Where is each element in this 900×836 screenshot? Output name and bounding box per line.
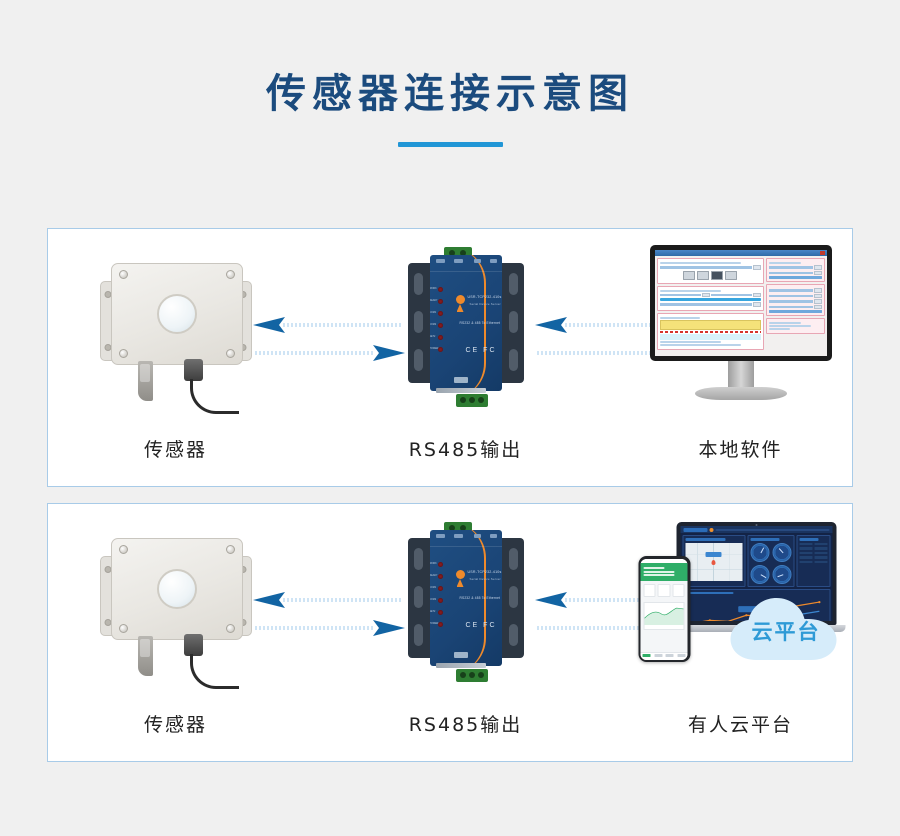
stage-label-endpoint: 有人云平台 <box>628 710 853 737</box>
terminal-block-bottom <box>456 669 488 682</box>
metric-card <box>658 584 670 597</box>
diagram-page: 传感器连接示意图 <box>0 0 900 836</box>
device-faceplate: USR-TCP232-410s Serial Device Server RS2… <box>430 255 502 391</box>
cloud-platform-icon: 云平台 <box>638 522 843 687</box>
metric-card <box>672 584 684 597</box>
certification-marks: CE FC <box>466 622 497 629</box>
screw-icon <box>119 349 128 358</box>
status-led <box>438 574 443 579</box>
software-group-params <box>766 284 824 316</box>
phone-screen <box>641 559 688 660</box>
device-subtitle-text: Serial Device Server <box>470 577 501 581</box>
monitor-screen <box>655 250 827 356</box>
device-feature-text: RS232 & 485 To Ethernet <box>460 596 501 600</box>
sensor-dome-icon <box>157 294 197 334</box>
status-led <box>438 610 443 615</box>
monitor-bezel <box>650 245 832 361</box>
cable-gland <box>184 634 203 656</box>
avatar <box>709 528 713 532</box>
device-feature-text: RS232 & 485 To Ethernet <box>460 321 501 325</box>
device-subtitle-text: Serial Device Server <box>470 302 501 306</box>
led-label: NET2 <box>430 610 436 613</box>
status-led <box>438 311 443 316</box>
monitor-stand-base <box>695 387 787 400</box>
status-led <box>438 598 443 603</box>
led-label: COM2 <box>430 323 437 326</box>
device-top-port-bar <box>430 255 502 272</box>
stage-label-sensor: 传感器 <box>58 435 293 462</box>
window-close-icon <box>820 251 825 255</box>
sensor-housing <box>111 263 243 365</box>
status-led <box>438 323 443 328</box>
software-group-settings <box>766 258 824 282</box>
software-group-log <box>766 318 824 334</box>
led-label: READY <box>430 574 438 577</box>
cloud-platform-illustration: 云平台 <box>628 518 853 698</box>
screw-icon <box>119 624 128 633</box>
desktop-monitor-icon <box>650 245 832 405</box>
screw-icon <box>226 624 235 633</box>
screw-icon <box>226 545 235 554</box>
device-model-text: USR-TCP232-410s <box>468 570 502 574</box>
status-led <box>438 562 443 567</box>
diagram-row-local-software: 传感器 <box>47 228 853 487</box>
sensor-box-icon <box>100 251 252 401</box>
led-label: COM1 <box>430 311 437 314</box>
monitor-stand-neck <box>728 361 754 389</box>
gauge-widget <box>773 565 792 584</box>
stage-label-sensor: 传感器 <box>58 710 293 737</box>
sensor-box-icon <box>100 526 252 676</box>
sensor-probe <box>138 636 153 676</box>
screw-icon <box>119 270 128 279</box>
led-label: READY <box>430 299 438 302</box>
diagram-row-cloud-platform: 传感器 <box>47 503 853 762</box>
stage-endpoint-row2: 云平台 有人云平台 <box>628 504 853 761</box>
local-software-window <box>655 250 827 356</box>
gauge-widget <box>773 543 792 562</box>
serial-server-icon: USR-TCP232-410s Serial Device Server RS2… <box>408 522 524 682</box>
phone-tab-bar <box>641 652 688 660</box>
phone-summary-card <box>641 563 688 581</box>
rj45-port <box>454 652 468 658</box>
status-led <box>438 299 443 304</box>
stage-label-endpoint: 本地软件 <box>628 435 853 462</box>
device-faceplate: USR-TCP232-410s Serial Device Server RS2… <box>430 530 502 666</box>
title-underline-rule <box>398 142 503 147</box>
phone-area-chart <box>644 602 685 630</box>
dashboard-map-card <box>682 535 746 587</box>
led-label: POWER <box>430 347 439 350</box>
dashboard-table-card <box>797 535 830 587</box>
phone-metric-cards <box>641 581 688 600</box>
led-label: COM1 <box>430 586 437 589</box>
status-led <box>438 287 443 292</box>
bottom-edge-connector <box>436 388 486 393</box>
stage-label-converter: RS485输出 <box>348 710 583 737</box>
terminal-block-bottom <box>456 394 488 407</box>
status-led <box>438 586 443 591</box>
sensor-probe <box>138 361 153 401</box>
sensor-cable <box>190 379 239 414</box>
dashboard-header <box>680 526 832 533</box>
sensor-housing <box>111 538 243 640</box>
software-group-data <box>657 313 765 350</box>
page-header: 传感器连接示意图 <box>0 0 900 147</box>
device-top-port-bar <box>430 530 502 547</box>
led-label: NET2 <box>430 335 436 338</box>
desktop-monitor-illustration <box>628 243 853 423</box>
stage-label-converter: RS485输出 <box>348 435 583 462</box>
dashboard-gauges-card <box>748 535 795 587</box>
status-led <box>438 335 443 340</box>
metric-card <box>644 584 656 597</box>
screw-icon <box>226 270 235 279</box>
bottom-edge-connector <box>436 663 486 668</box>
led-label: POWER <box>430 622 439 625</box>
led-label: WORK <box>430 287 437 290</box>
gauge-widget <box>751 565 770 584</box>
sensor-dome-icon <box>157 569 197 609</box>
screw-icon <box>119 545 128 554</box>
certification-marks: CE FC <box>466 347 497 354</box>
cable-gland <box>184 359 203 381</box>
usr-logo-icon <box>456 570 465 579</box>
page-title: 传感器连接示意图 <box>0 74 900 114</box>
rj45-port <box>454 377 468 383</box>
led-label: COM2 <box>430 598 437 601</box>
usr-logo-icon <box>456 295 465 304</box>
smartphone-icon <box>638 556 690 662</box>
software-group-device <box>657 258 765 284</box>
window-title-text <box>657 252 658 255</box>
stage-endpoint-row1: 本地软件 <box>628 229 853 486</box>
gauge-widget <box>751 543 770 562</box>
sensor-cable <box>190 654 239 689</box>
cloud-badge-label: 云平台 <box>726 616 846 646</box>
led-label: WORK <box>430 562 437 565</box>
phone-notch <box>656 556 672 559</box>
cloud-badge: 云平台 <box>726 594 846 664</box>
screw-icon <box>226 349 235 358</box>
serial-server-icon: USR-TCP232-410s Serial Device Server RS2… <box>408 247 524 407</box>
software-group-connection <box>657 286 765 311</box>
device-model-text: USR-TCP232-410s <box>468 295 502 299</box>
map-widget <box>685 543 743 581</box>
